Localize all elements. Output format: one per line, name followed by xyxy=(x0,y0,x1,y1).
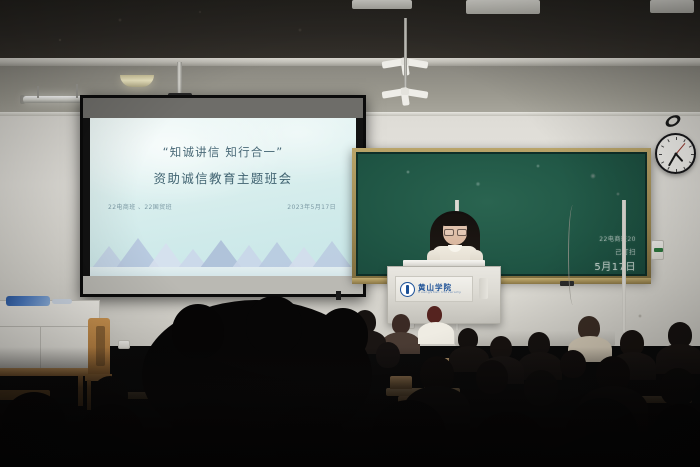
classroom-photo: “知诚讲信 知行合一” 资助诚信教育主题班会 22电商班 、22国贸班 2023… xyxy=(0,0,700,467)
slide-mountain-base xyxy=(90,267,356,276)
ceiling-vent-center xyxy=(466,0,540,14)
wall-pillar-right xyxy=(622,200,626,332)
slide-title-line-1: “知诚讲信 知行合一” xyxy=(90,144,356,160)
blue-cloth xyxy=(6,296,50,306)
blackboard: 22电商班20 己打扫 5月17日 xyxy=(356,152,647,276)
projection-screen: “知诚讲信 知行合一” 资助诚信教育主题班会 22电商班 、22国贸班 2023… xyxy=(80,95,366,297)
tube-light-rod-a xyxy=(37,86,39,98)
slide-date: 2023年5月17日 xyxy=(287,202,336,211)
university-seal-icon xyxy=(400,282,415,297)
cabinet-seam-1 xyxy=(0,326,100,327)
chalk-line-3: 5月17日 xyxy=(594,258,636,273)
screen-bottom-handle xyxy=(336,291,341,300)
student-head xyxy=(392,314,410,334)
wall-switch[interactable] xyxy=(651,240,664,260)
projector-pole xyxy=(177,62,182,95)
slide-mountain-graphic xyxy=(90,230,356,276)
hanging-cable xyxy=(568,205,578,305)
student-head xyxy=(246,296,302,354)
student-head xyxy=(427,306,442,323)
presentation-slide: “知诚讲信 知行合一” 资助诚信教育主题班会 22电商班 、22国贸班 2023… xyxy=(90,118,356,276)
clock-center-pin xyxy=(674,152,677,155)
screen-bottom-band xyxy=(83,276,363,294)
ceiling-texture xyxy=(0,0,700,62)
student-shoulders xyxy=(418,322,454,344)
blackboard-frame: 22电商班20 己打扫 5月17日 xyxy=(352,148,651,280)
slide-class-names: 22电商班 、22国贸班 xyxy=(108,202,172,211)
podium-side-vent xyxy=(479,278,488,299)
ceiling-vent-right xyxy=(650,0,694,13)
tube-light-rod-b xyxy=(76,84,78,98)
screen-top-band xyxy=(83,98,363,118)
podium-name-en: HuangShan University xyxy=(418,291,461,294)
ceiling-vent-left xyxy=(352,0,412,9)
glasses-left-icon xyxy=(444,229,454,236)
podium-name-plate: 黄山学院 HuangShan University xyxy=(395,276,473,302)
wall-clock xyxy=(655,133,696,174)
white-cloth xyxy=(52,299,72,304)
switch-indicator-icon xyxy=(654,248,663,252)
clock-minute-hand xyxy=(668,153,676,166)
blackboard-chalk-dust xyxy=(358,154,645,274)
slide-title-line-2: 资助诚信教育主题班会 xyxy=(90,168,356,187)
chalk-line-1: 22电商班20 xyxy=(599,234,636,243)
presenter-fringe xyxy=(441,214,469,226)
glasses-right-icon xyxy=(457,229,467,236)
foreground-shadow xyxy=(0,347,700,467)
